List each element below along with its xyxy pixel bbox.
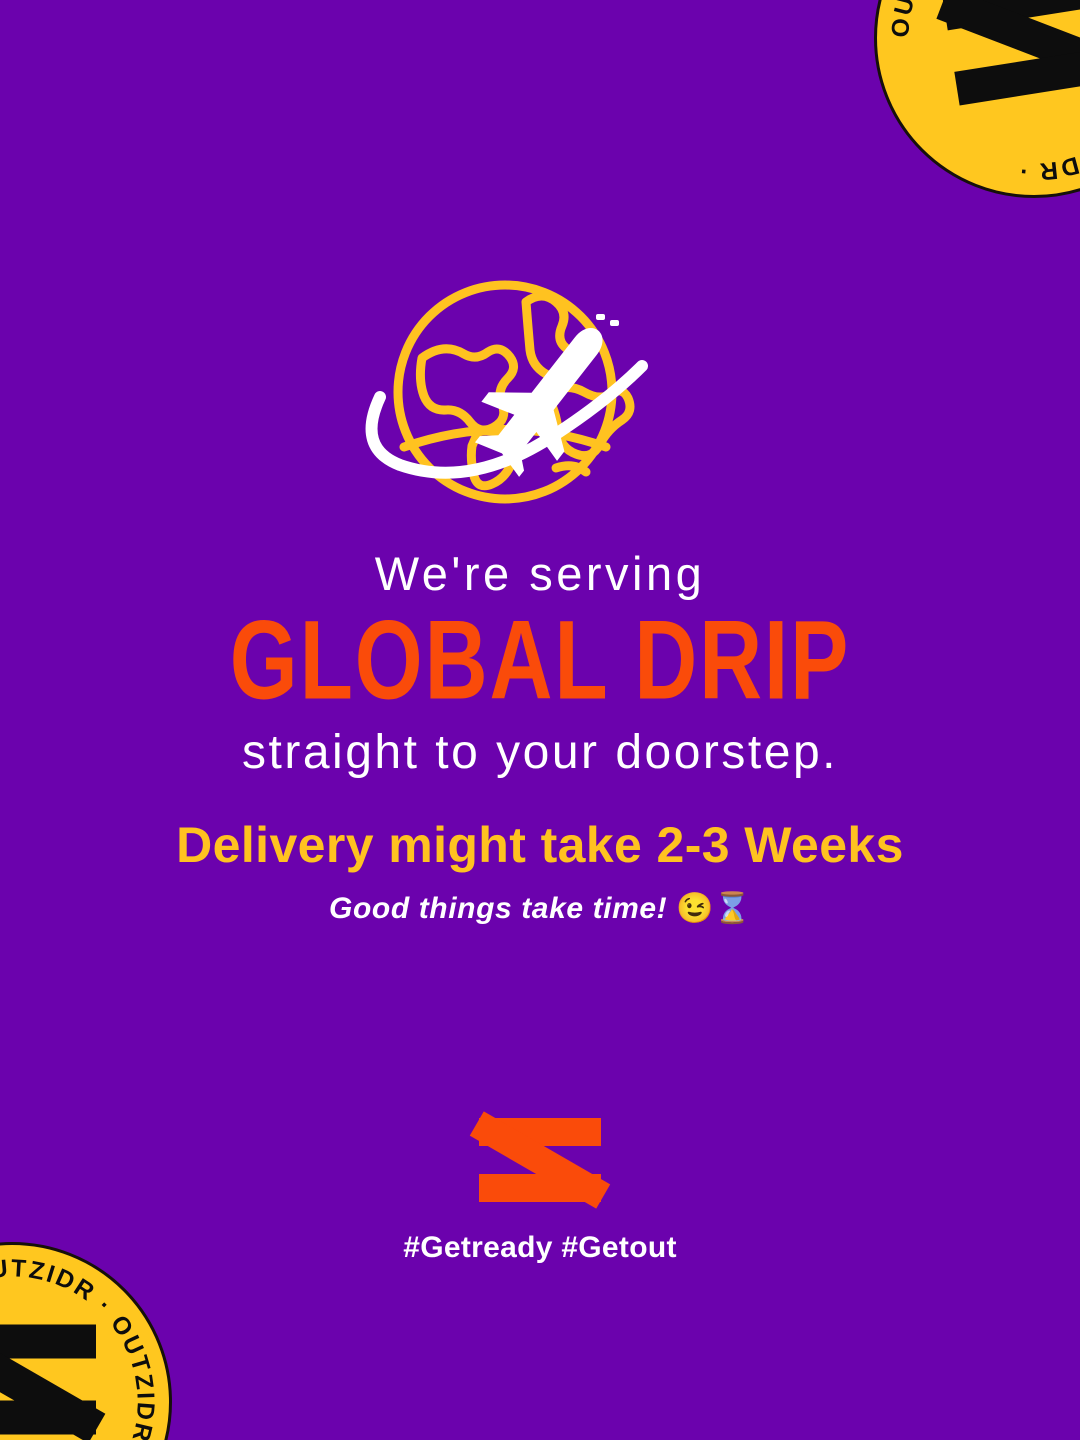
headline-text: GLOBAL DRIP (0, 615, 1080, 709)
headline-text-inner: GLOBAL DRIP (230, 604, 850, 718)
badge-center-mark-bl: OUTZIDR (0, 1325, 107, 1440)
delivery-note-label: Good things take time! (329, 892, 667, 925)
promo-poster: OUTZIDR · OUTZIDR · OUTZIDR · OUTZIDR · (0, 0, 1080, 1440)
eyebrow-text: We're serving (0, 548, 1080, 601)
brand-badge-bottom-left: OUTZIDR · OUTZIDR · OUTZIDR · OUTZIDR · … (0, 1242, 172, 1440)
footer-logo (479, 1118, 601, 1202)
footer-block: #Getready #Getout (0, 1118, 1080, 1265)
z-logo-mark-icon (479, 1118, 601, 1202)
z-bottom-bar (0, 1401, 96, 1435)
z-logo-mark-icon (942, 0, 1080, 105)
globe-airplane-icon (360, 262, 720, 512)
delivery-info-block: Delivery might take 2-3 Weeks Good thing… (0, 818, 1080, 926)
z-top-bar (0, 1325, 96, 1359)
tagline-text: straight to your doorstep. (0, 726, 1080, 780)
z-bottom-bar (479, 1174, 601, 1202)
hero-illustration (0, 262, 1080, 522)
z-logo-mark-icon (0, 1325, 96, 1435)
wink-hourglass-emoji: 😉⌛ (676, 892, 751, 925)
delivery-note-text: Good things take time! 😉⌛ (0, 891, 1080, 926)
headline-block: We're serving GLOBAL DRIP straight to yo… (0, 548, 1080, 780)
delivery-estimate-text: Delivery might take 2-3 Weeks (0, 818, 1080, 873)
brand-badge-top-right: OUTZIDR · OUTZIDR · OUTZIDR · OUTZIDR · (874, 0, 1080, 198)
